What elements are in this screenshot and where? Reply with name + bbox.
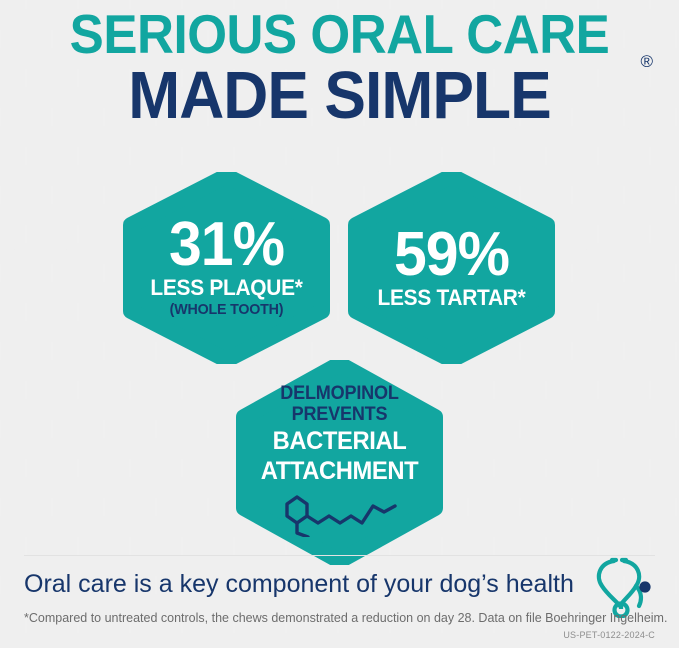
badge-delmopinol-line4: ATTACHMENT: [241, 458, 438, 485]
badge-less-tartar: 59% LESS TARTAR*: [348, 172, 555, 364]
footer-code: US-PET-0122-2024-C: [563, 629, 655, 641]
badge-stat-label: LESS TARTAR*: [353, 286, 550, 310]
badge-delmopinol-line3: BACTERIAL: [241, 428, 438, 455]
footer-divider: [24, 555, 655, 556]
badge-stat-note: (WHOLE TOOTH): [128, 300, 325, 320]
badge-stat-value: 59%: [353, 226, 550, 284]
badge-stat-label: LESS PLAQUE*: [128, 276, 325, 300]
badge-stat-value: 31%: [128, 216, 325, 274]
headline-block: SERIOUS ORAL CARE MADE SIMPLE ®: [0, 0, 679, 129]
heart-stethoscope-icon: [592, 556, 658, 618]
badge-delmopinol-line2: PREVENTS: [241, 404, 438, 425]
headline-line-made: MADE SIMPLE: [24, 63, 655, 129]
footer-tagline: Oral care is a key component of your dog…: [24, 569, 574, 599]
badge-less-plaque: 31% LESS PLAQUE* (WHOLE TOOTH): [123, 172, 330, 364]
footer-disclaimer: *Compared to untreated controls, the che…: [24, 610, 667, 626]
badge-delmopinol: DELMOPINOL PREVENTS BACTERIAL ATTACHMENT: [236, 360, 443, 565]
registered-trademark-symbol: ®: [640, 52, 653, 72]
headline-line-serious: SERIOUS ORAL CARE: [24, 0, 655, 63]
delmopinol-molecule-icon: [275, 493, 405, 537]
badge-delmopinol-line1: DELMOPINOL: [241, 383, 438, 404]
